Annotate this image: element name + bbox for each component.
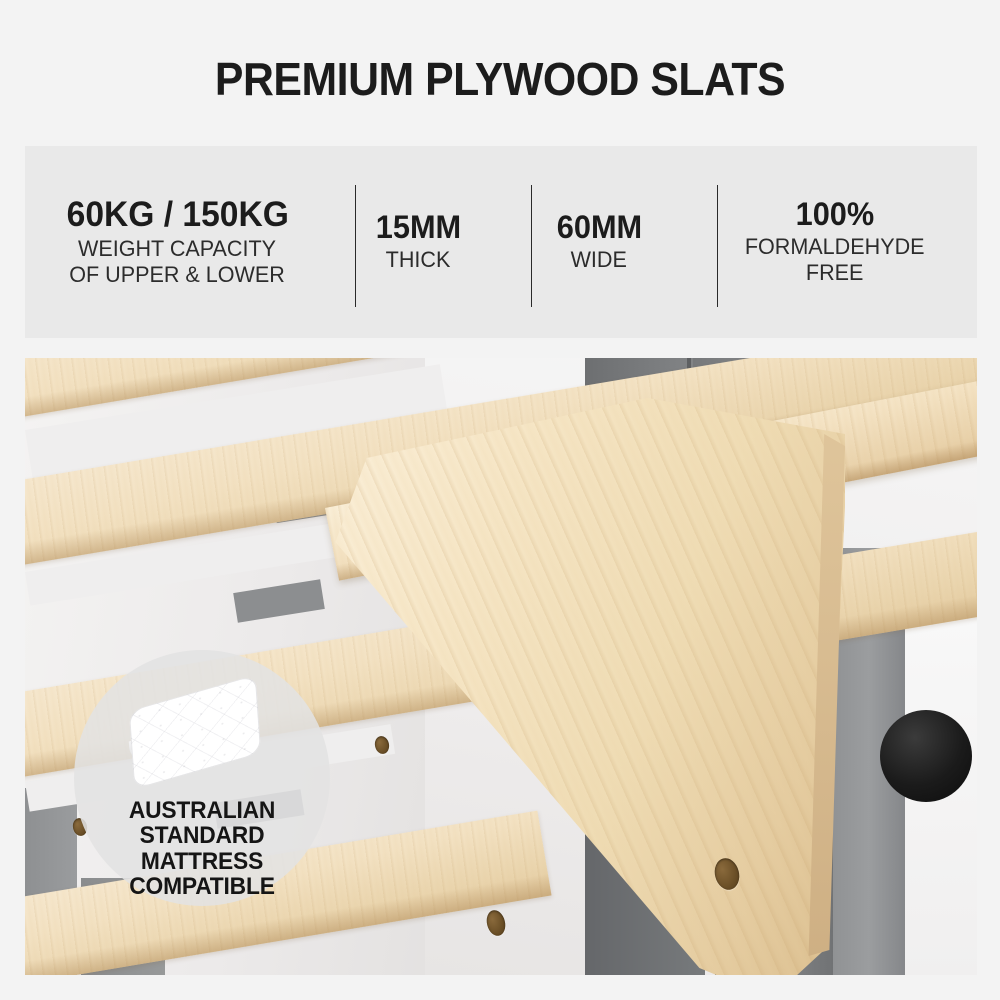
spec-value: 15MM (375, 211, 460, 244)
spec-label-line-1: THICK (386, 247, 451, 273)
spec-value: 60MM (556, 211, 641, 244)
spec-label-line-1: WIDE (571, 247, 627, 273)
spec-divider-1 (355, 185, 356, 307)
spec-label-line-1: FORMALDEHYDE (745, 234, 925, 260)
spec-label-line-2: FREE (745, 260, 925, 286)
spec-divider-3 (717, 185, 718, 307)
spec-label: WEIGHT CAPACITY OF UPPER & LOWER (70, 236, 286, 287)
spec-item-width: 60MM WIDE (506, 146, 692, 338)
spec-item-weight-capacity: 60KG / 150KG WEIGHT CAPACITY OF UPPER & … (25, 146, 330, 338)
badge-text-line-4: COMPATIBLE (129, 874, 275, 899)
spec-label: THICK (386, 247, 451, 273)
mattress-compatible-badge: AUSTRALIAN STANDARD MATTRESS COMPATIBLE (74, 650, 330, 906)
spec-panel: 60KG / 150KG WEIGHT CAPACITY OF UPPER & … (25, 146, 977, 338)
product-infographic: PREMIUM PLYWOOD SLATS 60KG / 150KG WEIGH… (0, 0, 1000, 1000)
mattress-quilt-pattern (129, 675, 261, 790)
mattress-icon (129, 684, 275, 788)
page-title: PREMIUM PLYWOOD SLATS (35, 52, 965, 106)
spec-item-formaldehyde-free: 100% FORMALDEHYDE FREE (692, 146, 977, 338)
spec-label: WIDE (571, 247, 627, 273)
spec-value: 100% (795, 198, 874, 231)
badge-text-line-3: MATTRESS (129, 849, 275, 874)
spec-divider-2 (531, 185, 532, 307)
dark-fitting-icon (880, 710, 972, 802)
spec-label-line-1: WEIGHT CAPACITY (70, 236, 286, 262)
badge-text-line-2: STANDARD (129, 823, 275, 848)
spec-label: FORMALDEHYDE FREE (745, 234, 925, 285)
mattress-illustration (107, 680, 297, 792)
spec-item-thickness: 15MM THICK (330, 146, 506, 338)
badge-text-line-1: AUSTRALIAN (129, 798, 275, 823)
badge-text: AUSTRALIAN STANDARD MATTRESS COMPATIBLE (129, 798, 275, 900)
spec-value: 60KG / 150KG (66, 197, 288, 233)
spec-label-line-2: OF UPPER & LOWER (70, 262, 286, 288)
